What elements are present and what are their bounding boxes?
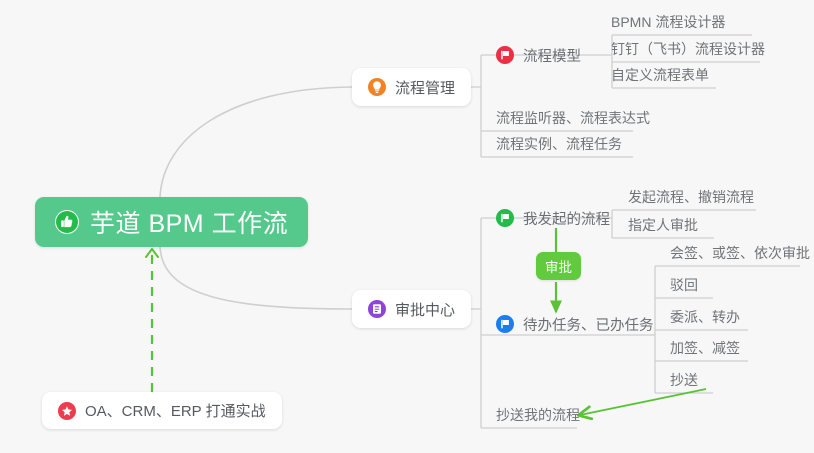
- branch-label: 流程管理: [395, 77, 455, 98]
- clipboard-icon: [368, 300, 386, 318]
- leaf-add-remove-sign[interactable]: 加签、减签: [662, 334, 750, 361]
- leaf-label: 流程实例、流程任务: [496, 134, 622, 154]
- root-label: 芋道 BPM 工作流: [90, 204, 288, 240]
- leaf-designated-approver[interactable]: 指定人审批: [620, 211, 708, 238]
- approval-flow-badge[interactable]: 审批: [536, 252, 581, 280]
- thumbs-up-icon: [55, 210, 79, 234]
- leaf-start-cancel-process[interactable]: 发起流程、撤销流程: [620, 183, 764, 210]
- leaf-custom-form[interactable]: 自定义流程表单: [603, 61, 719, 88]
- branch-label: 审批中心: [395, 299, 455, 320]
- node-my-started-processes[interactable]: 我发起的流程: [490, 204, 618, 232]
- leaf-label: 会签、或签、依次审批: [670, 243, 810, 263]
- lightbulb-icon: [368, 78, 386, 96]
- integration-note-node[interactable]: OA、CRM、ERP 打通实战: [42, 392, 282, 429]
- leaf-label: 加签、减签: [670, 338, 740, 358]
- leaf-label: 指定人审批: [628, 215, 698, 235]
- leaf-countersign[interactable]: 会签、或签、依次审批: [662, 239, 814, 266]
- leaf-bpmn-designer[interactable]: BPMN 流程设计器: [603, 8, 735, 35]
- node-label: 待办任务、已办任务: [523, 314, 654, 335]
- leaf-dingtalk-designer[interactable]: 钉钉（飞书）流程设计器: [603, 35, 775, 62]
- leaf-process-listener[interactable]: 流程监听器、流程表达式: [488, 104, 660, 131]
- node-label: 我发起的流程: [523, 208, 610, 229]
- leaf-label: BPMN 流程设计器: [611, 12, 725, 32]
- leaf-process-instance[interactable]: 流程实例、流程任务: [488, 130, 632, 157]
- star-icon: [58, 402, 76, 420]
- flag-green-icon: [496, 209, 514, 227]
- branch-approval-center[interactable]: 审批中心: [352, 290, 471, 328]
- node-process-model[interactable]: 流程模型: [490, 41, 589, 69]
- flag-blue-icon: [496, 315, 514, 333]
- node-label: 流程模型: [523, 45, 581, 66]
- leaf-delegate-transfer[interactable]: 委派、转办: [662, 303, 750, 330]
- flag-red-icon: [496, 46, 514, 64]
- badge-label: 审批: [545, 256, 572, 276]
- leaf-label: 自定义流程表单: [611, 65, 709, 85]
- leaf-label: 委派、转办: [670, 307, 740, 327]
- leaf-label: 抄送: [670, 370, 698, 390]
- leaf-label: 钉钉（飞书）流程设计器: [611, 39, 765, 59]
- leaf-label: 发起流程、撤销流程: [628, 187, 754, 207]
- leaf-reject[interactable]: 驳回: [662, 271, 708, 298]
- leaf-carbon-copy[interactable]: 抄送: [662, 366, 708, 393]
- leaf-label: 驳回: [670, 275, 698, 295]
- root-node[interactable]: 芋道 BPM 工作流: [35, 197, 308, 247]
- node-todo-done-tasks[interactable]: 待办任务、已办任务: [490, 310, 662, 338]
- leaf-cc-to-me[interactable]: 抄送我的流程: [488, 401, 590, 428]
- integration-note-label: OA、CRM、ERP 打通实战: [85, 400, 266, 421]
- leaf-label: 流程监听器、流程表达式: [496, 108, 650, 128]
- leaf-label: 抄送我的流程: [496, 405, 580, 425]
- mindmap-canvas: 芋道 BPM 工作流 流程管理 流程模型 BPMN 流程设计器 钉钉（飞书）流程…: [0, 0, 814, 453]
- branch-process-management[interactable]: 流程管理: [352, 68, 471, 106]
